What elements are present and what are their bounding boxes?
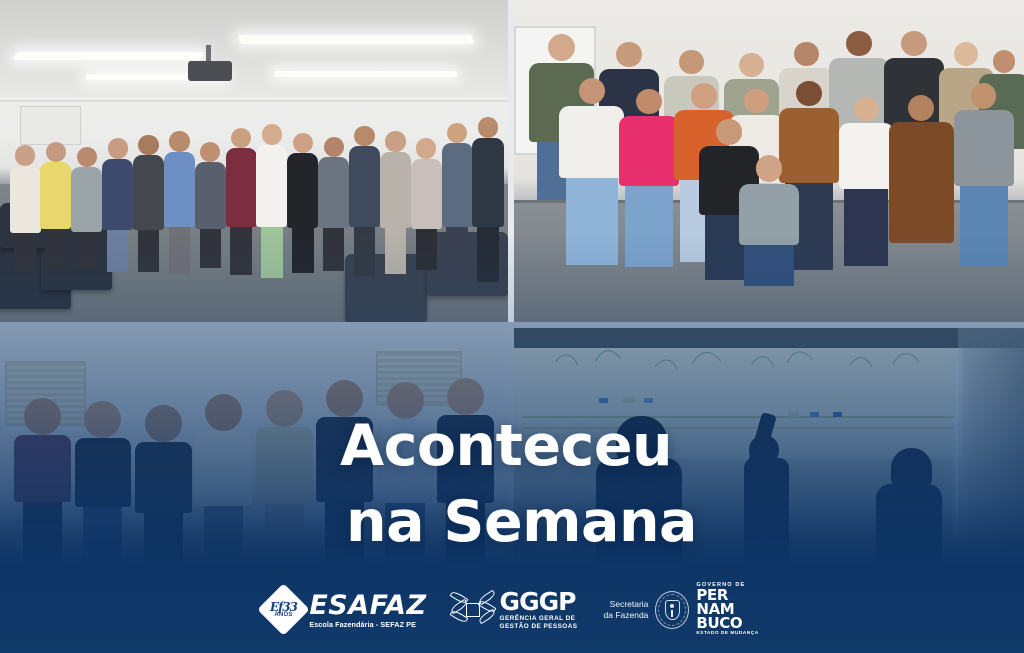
diamond-badge-icon: Ef33 ANOS <box>258 584 310 636</box>
government-slogan: ESTADO DE MUDANÇA <box>696 632 758 637</box>
government-logo: Secretaria da Fazenda GOVERNO DE PER NAM… <box>604 583 759 637</box>
photo-top-left <box>0 0 508 322</box>
secretaria-line-2: da Fazenda <box>604 610 649 621</box>
pernambuco-state-seal-icon <box>655 591 689 629</box>
secretaria-line-1: Secretaria <box>604 599 649 610</box>
state-name-part-3: BUCO <box>696 616 758 630</box>
gggp-logo: GGGP GERÊNCIA GERAL DE GESTÃO DE PESSOAS <box>453 589 578 630</box>
esafaz-logo: Ef33 ANOS ESAFAZ Escola Fazendária - SEF… <box>265 591 426 628</box>
gggp-line-1: GERÊNCIA GERAL DE <box>500 616 578 622</box>
photo-top-right <box>514 0 1024 322</box>
gggp-line-2: GESTÃO DE PESSOAS <box>500 624 578 630</box>
gggp-name: GGGP <box>500 589 578 614</box>
silhouette-right-head <box>891 448 932 490</box>
esafaz-name: ESAFAZ <box>309 592 426 619</box>
x-knot-icon <box>453 590 493 630</box>
logo-bar: Ef33 ANOS ESAFAZ Escola Fazendária - SEF… <box>0 583 1024 637</box>
esafaz-tagline: Escola Fazendária - SEFAZ PE <box>309 621 426 628</box>
silhouette-left-head <box>616 416 667 465</box>
poster-canvas: Aconteceu na Semana Ef33 ANOS ESAFAZ Esc… <box>0 0 1024 653</box>
photo-collage-grid <box>0 0 1024 653</box>
